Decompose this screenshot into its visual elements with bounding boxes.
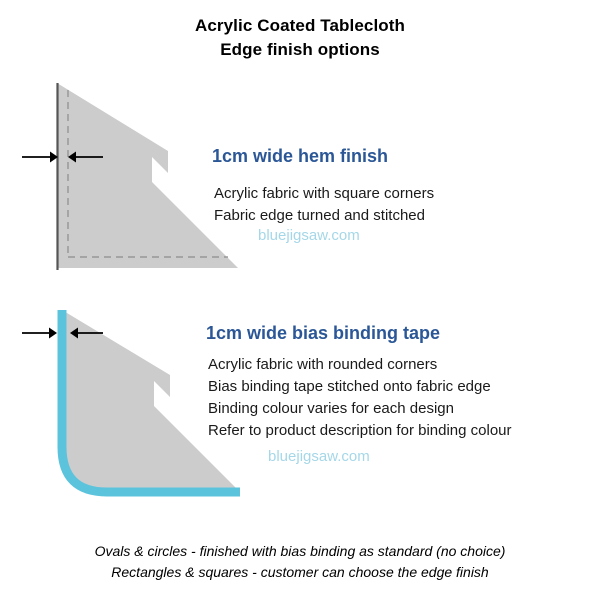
hem-width-arrow-left <box>22 152 58 163</box>
section-1-description: Acrylic fabric with square corners Fabri… <box>214 183 434 227</box>
footer-line-2: Rectangles & squares - customer can choo… <box>0 562 600 583</box>
title-line-2: Edge finish options <box>0 38 600 62</box>
section-2-line-1: Acrylic fabric with rounded corners <box>208 354 512 376</box>
section-1-line-1: Acrylic fabric with square corners <box>214 183 434 205</box>
section-2-line-4: Refer to product description for binding… <box>208 420 512 442</box>
edge-finish-illustrations <box>0 0 600 600</box>
section-2-watermark: bluejigsaw.com <box>268 448 370 465</box>
section-1-line-2: Fabric edge turned and stitched <box>214 205 434 227</box>
footer-note: Ovals & circles - finished with bias bin… <box>0 541 600 583</box>
section-2-line-2: Bias binding tape stitched onto fabric e… <box>208 376 512 398</box>
binding-width-arrow-left <box>22 328 57 339</box>
section-1-heading: 1cm wide hem finish <box>212 146 388 167</box>
hem-width-arrow-right <box>68 152 103 163</box>
section-1-watermark: bluejigsaw.com <box>258 227 360 244</box>
section-2-line-3: Binding colour varies for each design <box>208 398 512 420</box>
section-2-description: Acrylic fabric with rounded corners Bias… <box>208 354 512 442</box>
footer-line-1: Ovals & circles - finished with bias bin… <box>0 541 600 562</box>
diagram-page: Acrylic Coated Tablecloth Edge finish op… <box>0 0 600 600</box>
fabric-triangle-square-corner <box>57 83 238 268</box>
section-2-heading: 1cm wide bias binding tape <box>206 323 440 344</box>
title-line-1: Acrylic Coated Tablecloth <box>0 14 600 38</box>
square-corner-hem-diagram <box>22 83 238 270</box>
page-title: Acrylic Coated Tablecloth Edge finish op… <box>0 14 600 62</box>
binding-width-arrow-right <box>70 328 103 339</box>
